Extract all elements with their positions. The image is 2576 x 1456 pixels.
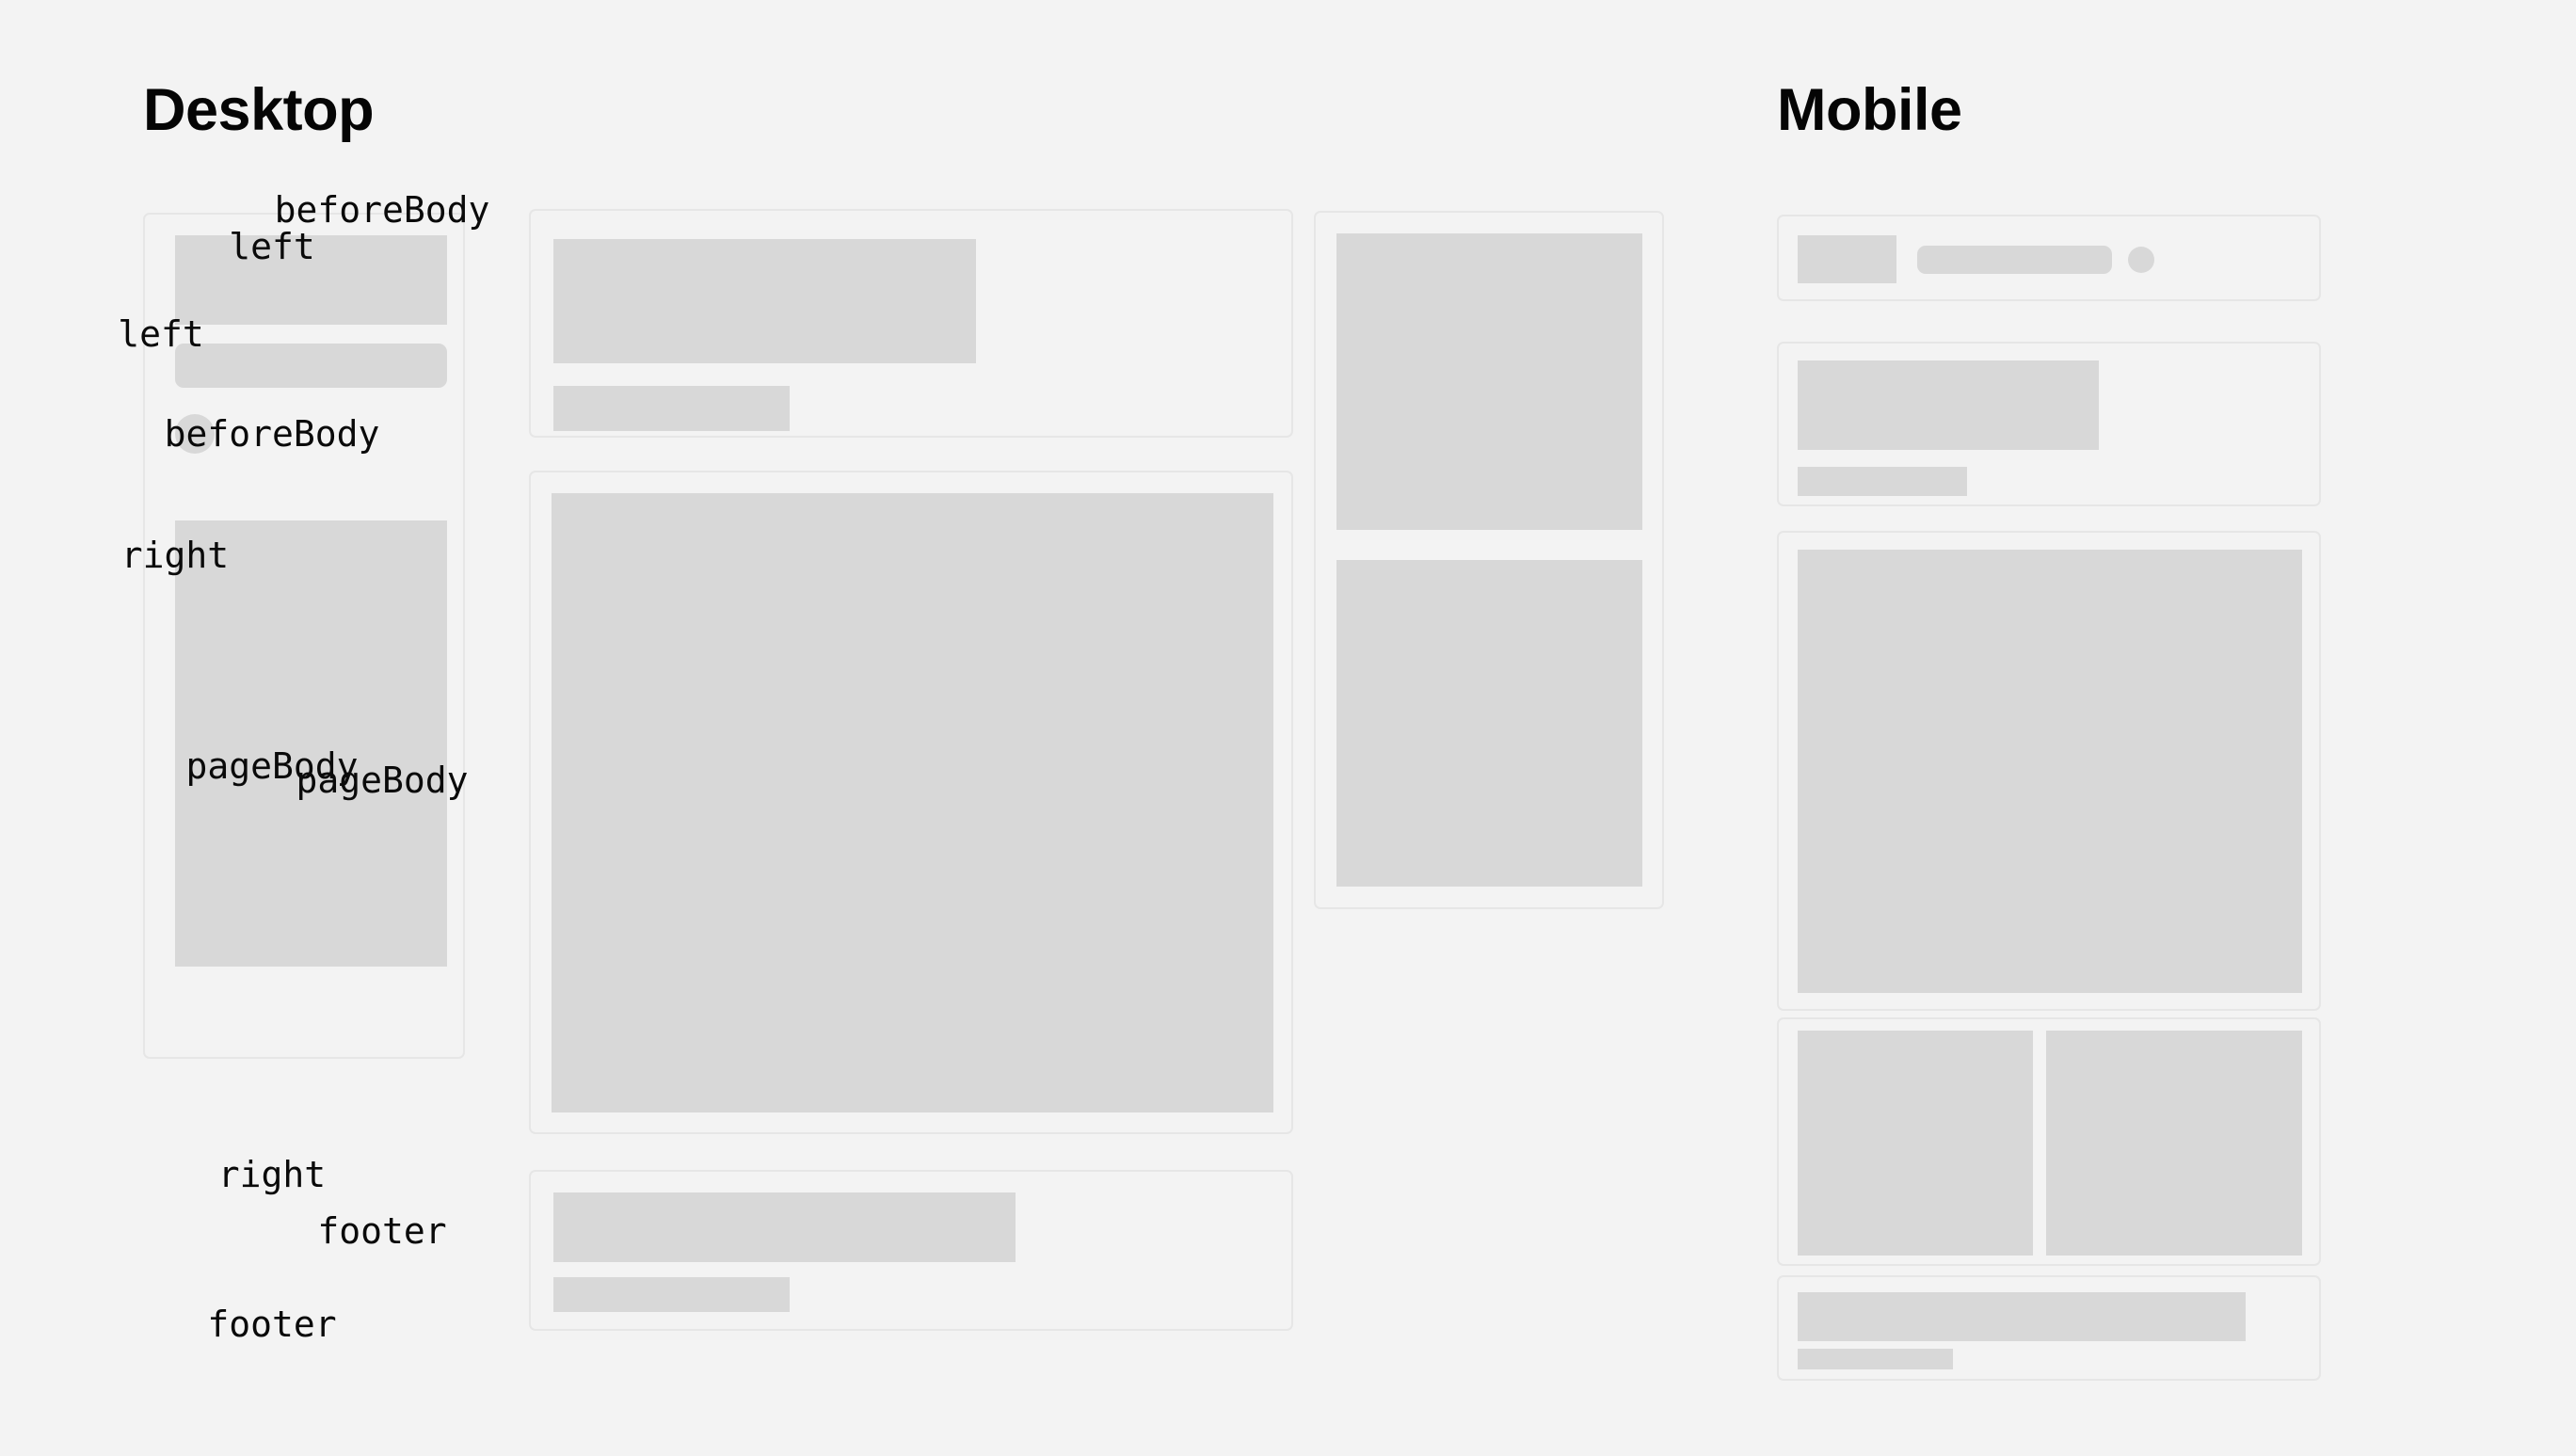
- page-title-mobile: Mobile: [1777, 81, 1962, 140]
- skeleton-block: [1798, 360, 2099, 450]
- skeleton-block: [1798, 1031, 2033, 1256]
- mobile-slot-page-body-panel[interactable]: [1777, 531, 2321, 1011]
- mobile-slot-footer-panel[interactable]: [1777, 1275, 2321, 1381]
- desktop-slot-page-body-panel[interactable]: [529, 471, 1293, 1134]
- skeleton-block: [1336, 560, 1642, 887]
- page-title-desktop: Desktop: [143, 81, 374, 140]
- mobile-slot-before-body-panel[interactable]: [1777, 342, 2321, 506]
- skeleton-bar: [1798, 467, 1967, 496]
- skeleton-block: [553, 1192, 1016, 1262]
- mobile-slot-label-footer: footer: [0, 1306, 544, 1342]
- skeleton-block: [553, 239, 976, 363]
- skeleton-block: [175, 235, 447, 325]
- skeleton-bar: [553, 1277, 790, 1312]
- mobile-slot-label-right: right: [0, 1157, 544, 1192]
- mobile-slot-right-panel[interactable]: [1777, 1017, 2321, 1266]
- skeleton-panel-body: [552, 493, 1273, 1112]
- skeleton-panel-body: [175, 520, 447, 967]
- skeleton-block: [1336, 233, 1642, 530]
- skeleton-bar: [553, 386, 790, 431]
- skeleton-avatar-circle: [175, 414, 215, 454]
- skeleton-bar: [175, 344, 447, 388]
- skeleton-block: [2046, 1031, 2302, 1256]
- skeleton-panel-body: [1798, 550, 2302, 993]
- skeleton-block: [1798, 1292, 2246, 1341]
- desktop-slot-left-panel[interactable]: [143, 213, 465, 1059]
- skeleton-bar: [1917, 246, 2112, 274]
- desktop-slot-footer-panel[interactable]: [529, 1170, 1293, 1331]
- desktop-slot-before-body-panel[interactable]: [529, 209, 1293, 438]
- mobile-slot-left-panel[interactable]: [1777, 215, 2321, 301]
- skeleton-avatar-circle: [2128, 247, 2154, 273]
- skeleton-bar: [1798, 1349, 1953, 1369]
- skeleton-block: [1798, 235, 1896, 283]
- desktop-slot-right-panel[interactable]: [1314, 211, 1664, 909]
